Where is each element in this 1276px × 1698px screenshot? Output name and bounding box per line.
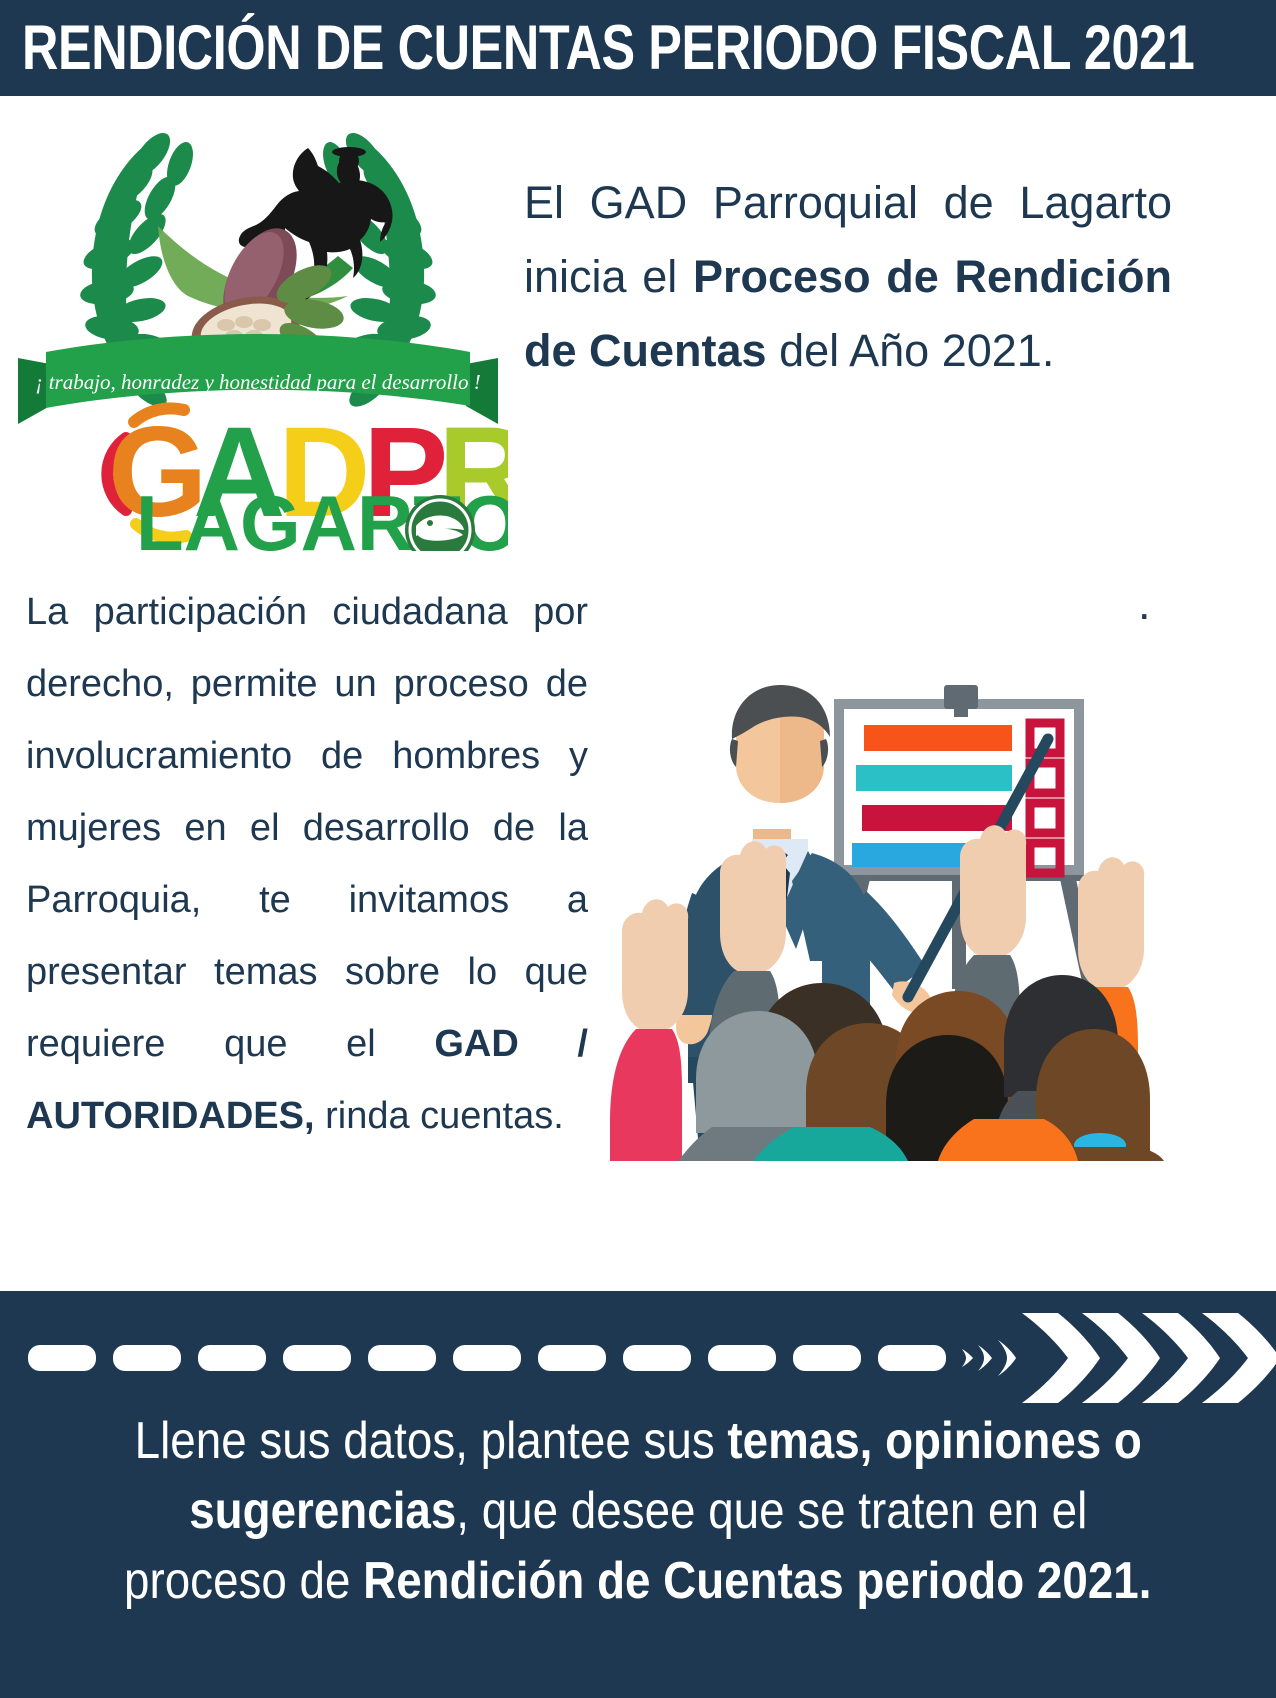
- presentation-illustration: [608, 661, 1164, 1161]
- body-part1: La participación ciudadana por derecho, …: [26, 591, 588, 1065]
- arrow-small-chevrons: [962, 1340, 1016, 1376]
- footer-section: Llene sus datos, plantee sus temas, opin…: [0, 1291, 1276, 1698]
- intro-paragraph: El GAD Parroquial de Lagarto inicia el P…: [524, 166, 1172, 388]
- footer-line-1: Llene sus datos, plantee sus temas, opin…: [30, 1406, 1246, 1476]
- top-section: ¡ trabajo, honradez y honestidad para el…: [0, 96, 1276, 566]
- footer-call-to-action: Llene sus datos, plantee sus temas, opin…: [30, 1406, 1246, 1616]
- arrow-large-chevrons: [1022, 1313, 1276, 1403]
- intro-part2: del Año 2021.: [767, 325, 1055, 376]
- footer-line2-regular: , que desee que se traten en el: [456, 1482, 1087, 1540]
- middle-section: La participación ciudadana por derecho, …: [0, 566, 1276, 1290]
- footer-line-2: sugerencias, que desee que se traten en …: [30, 1476, 1246, 1546]
- board-bar-1: [864, 725, 1012, 751]
- presentation-board-icon: [834, 685, 1084, 875]
- logo-motto: ¡ trabajo, honradez y honestidad para el…: [35, 370, 480, 394]
- footer-line1-bold: temas, opiniones o: [727, 1412, 1141, 1470]
- page-title: RENDICIÓN DE CUENTAS PERIODO FISCAL 2021: [22, 17, 1194, 80]
- logo-svg: ¡ trabajo, honradez y honestidad para el…: [8, 106, 508, 551]
- gadpr-lagarto-logo: ¡ trabajo, honradez y honestidad para el…: [8, 106, 508, 551]
- footer-line-3: proceso de Rendición de Cuentas periodo …: [30, 1546, 1246, 1616]
- footer-line2-bold: sugerencias: [189, 1482, 456, 1540]
- header-banner: RENDICIÓN DE CUENTAS PERIODO FISCAL 2021: [0, 0, 1276, 96]
- body-paragraph: La participación ciudadana por derecho, …: [26, 576, 588, 1152]
- arrow-dashes: [28, 1345, 946, 1371]
- board-bar-2: [856, 765, 1012, 791]
- footer-line3-bold: Rendición de Cuentas periodo 2021.: [363, 1552, 1151, 1610]
- footer-line1-regular: Llene sus datos, plantee sus: [134, 1412, 727, 1470]
- arrow-svg: [0, 1313, 1276, 1403]
- body-part2: rinda cuentas.: [315, 1095, 564, 1137]
- illustration-svg: [608, 661, 1164, 1161]
- dashed-arrow-graphic: [0, 1313, 1276, 1403]
- footer-line3-regular: proceso de: [124, 1552, 363, 1610]
- poster-root: RENDICIÓN DE CUENTAS PERIODO FISCAL 2021: [0, 0, 1276, 1698]
